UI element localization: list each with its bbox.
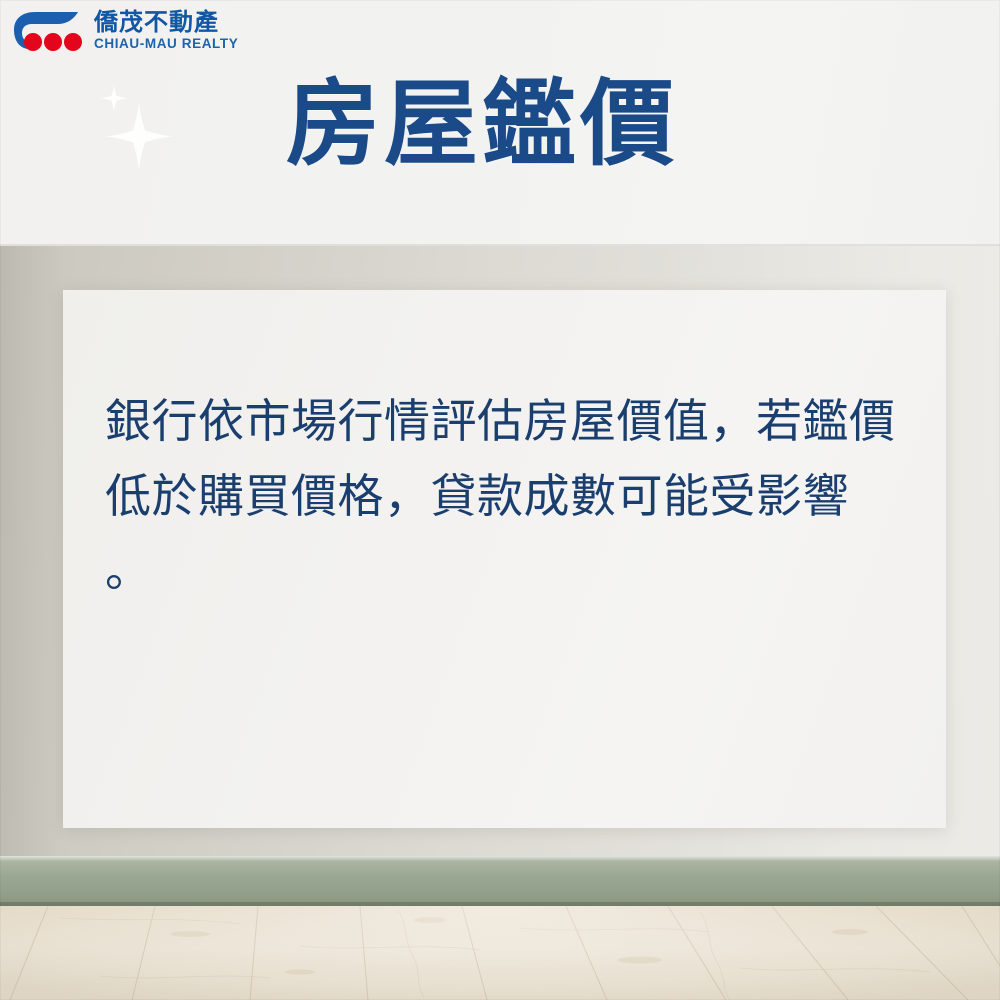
brand-logo: 僑茂不動產 CHIAU-MAU REALTY	[8, 8, 238, 54]
wall-left-shadow	[0, 246, 64, 856]
body-paragraph: 銀行依市場行情評估房屋價值，若鑑價低於購買價格，貸款成數可能受影響 。	[105, 384, 904, 608]
wood-floor	[0, 906, 1000, 1000]
page-title: 房屋鑑價	[286, 70, 678, 178]
baseboard-highlight	[0, 856, 1000, 861]
brand-name-english: CHIAU-MAU REALTY	[94, 37, 238, 52]
content-card: 銀行依市場行情評估房屋價值，若鑑價低於購買價格，貸款成數可能受影響 。	[63, 290, 946, 828]
content-card-inner: 銀行依市場行情評估房屋價值，若鑑價低於購買價格，貸款成數可能受影響 。	[63, 290, 946, 608]
floor-lighting	[0, 906, 1000, 1000]
chiau-mau-swoosh-logo-icon	[8, 8, 88, 54]
brand-wordmark: 僑茂不動產 CHIAU-MAU REALTY	[94, 8, 238, 52]
brand-name-chinese: 僑茂不動產	[94, 10, 238, 35]
header-band: 僑茂不動產 CHIAU-MAU REALTY 房屋鑑價	[0, 0, 1000, 246]
baseboard	[0, 856, 1000, 906]
poster-canvas: 僑茂不動產 CHIAU-MAU REALTY 房屋鑑價 銀行依市場行情評估房屋價…	[0, 0, 1000, 1000]
sparkle-icon	[96, 82, 188, 178]
